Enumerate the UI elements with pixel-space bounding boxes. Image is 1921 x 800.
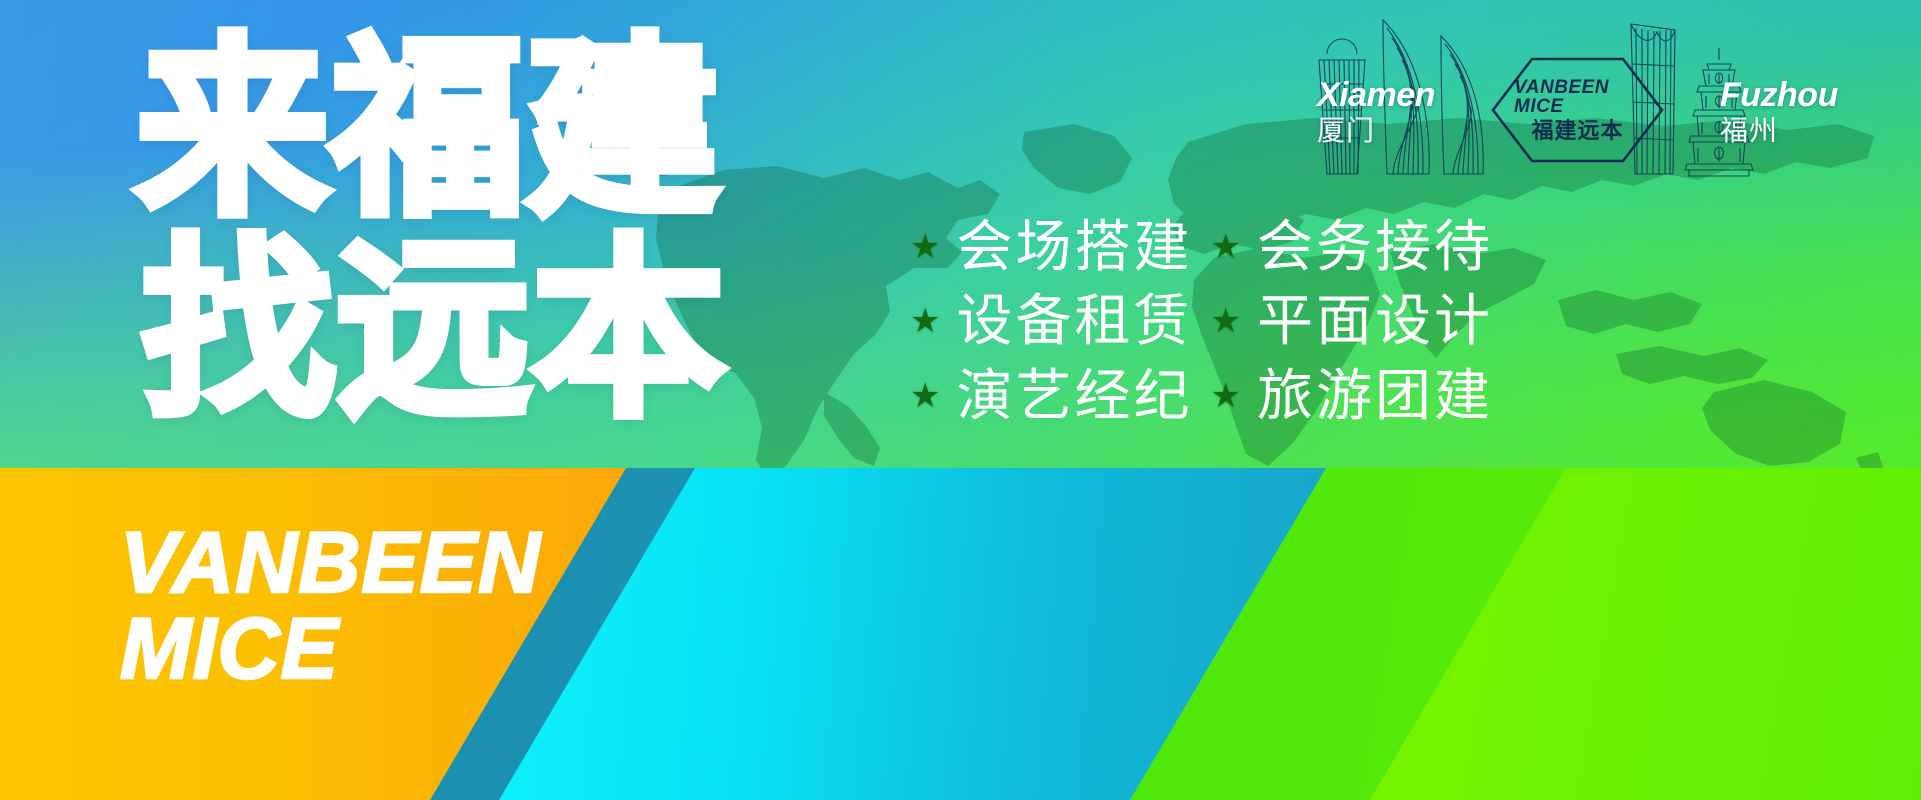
main-panel: 来福建 找远本 ★ 会场搭建 ★ 会务接待 ★ 设备租赁 ★ 平面设计 ★ [0,0,1921,468]
city-fuzhou-en: Fuzhou [1720,78,1838,112]
city-lockup: Xiamen 厦门 Fuzhou 福州 VANBEEN MICE 福建远本 [1305,6,1905,182]
service-item: ★ 平面设计 [1210,287,1492,355]
service-item: ★ 设备租赁 [910,287,1192,355]
headline-line-1: 来福建 [136,36,727,223]
star-icon: ★ [910,230,940,264]
star-icon: ★ [1210,304,1240,338]
service-item: ★ 旅游团建 [1210,362,1492,430]
brand-line-1: VANBEEN [120,524,541,604]
city-xiamen-en: Xiamen [1317,78,1435,112]
city-fuzhou-cn: 福州 [1720,117,1838,145]
hexlogo-cn: 福建远本 [1531,120,1623,142]
services-list: ★ 会场搭建 ★ 会务接待 ★ 设备租赁 ★ 平面设计 ★ 演艺经纪 ★ 旅游团… [910,213,1493,430]
service-label: 会场搭建 [956,213,1192,281]
service-label: 设备租赁 [956,287,1192,355]
star-icon: ★ [1210,379,1240,413]
headline: 来福建 找远本 [136,36,727,424]
service-item: ★ 演艺经纪 [910,362,1192,430]
star-icon: ★ [910,304,940,338]
service-item: ★ 会场搭建 [910,213,1192,281]
city-fuzhou: Fuzhou 福州 [1720,78,1838,145]
service-label: 演艺经纪 [956,362,1192,430]
service-item: ★ 会务接待 [1210,213,1492,281]
promotional-banner: 来福建 找远本 ★ 会场搭建 ★ 会务接待 ★ 设备租赁 ★ 平面设计 ★ [0,0,1921,800]
star-icon: ★ [910,379,940,413]
brand-line-2: MICE [120,610,541,690]
headline-line-2: 找远本 [142,237,727,424]
hexlogo-en-line-1: VANBEEN [1514,78,1609,97]
service-label: 旅游团建 [1257,362,1493,430]
brand-wordmark: VANBEEN MICE [120,524,541,690]
service-label: 会务接待 [1257,213,1493,281]
service-label: 平面设计 [1257,287,1493,355]
bottom-brand-bar: VANBEEN MICE [0,468,1921,800]
city-xiamen: Xiamen 厦门 [1317,78,1435,145]
city-xiamen-cn: 厦门 [1317,117,1435,145]
hexagon-logo: VANBEEN MICE 福建远本 [1490,56,1665,164]
hexlogo-en-line-2: MICE [1514,97,1564,116]
hexagon-logo-text: VANBEEN MICE 福建远本 [1490,56,1665,164]
star-icon: ★ [1210,230,1240,264]
